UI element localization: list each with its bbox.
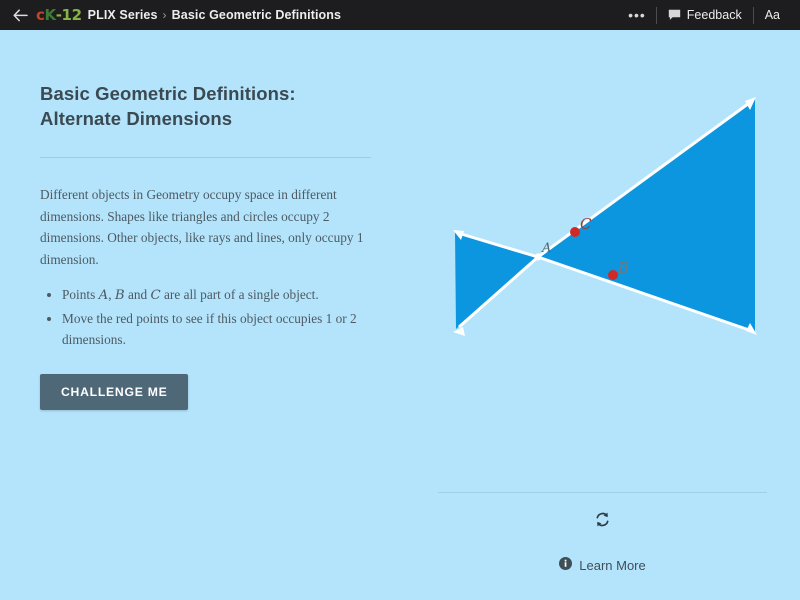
lesson-paragraph: Different objects in Geometry occupy spa… [40, 184, 380, 270]
challenge-me-button[interactable]: CHALLENGE ME [40, 374, 188, 410]
logo-12: -12 [56, 6, 82, 24]
figure-label-a: A [541, 241, 551, 256]
breadcrumb-separator-icon: › [163, 8, 167, 22]
refresh-icon [594, 511, 611, 531]
ck12-logo[interactable]: cK-12 [36, 6, 82, 24]
page-content: Basic Geometric Definitions: Alternate D… [0, 30, 800, 600]
bullet-1-post: are all part of a single object. [161, 287, 319, 302]
bullet-1-mid2: and [125, 287, 151, 302]
breadcrumb: PLIX Series › Basic Geometric Definition… [88, 8, 341, 22]
info-icon [559, 557, 572, 573]
more-options-icon[interactable]: ••• [618, 8, 656, 22]
figure-controls [430, 510, 775, 532]
top-bar-actions: ••• Feedback Aa [618, 0, 788, 30]
interactive-figure-panel: A B C [430, 82, 775, 573]
geometry-canvas[interactable]: A B C [430, 82, 770, 492]
logo-k: K [45, 6, 56, 24]
text-size-button[interactable]: Aa [754, 8, 788, 22]
point-label-b: B [115, 288, 125, 303]
learn-more-link[interactable]: Learn More [559, 557, 645, 573]
breadcrumb-root[interactable]: PLIX Series [88, 8, 158, 22]
title-divider [40, 157, 371, 158]
back-arrow-icon[interactable] [10, 5, 30, 25]
point-label-a: A [99, 288, 109, 303]
draggable-point-c [570, 227, 580, 237]
logo-c: c [36, 6, 45, 24]
reset-button[interactable] [592, 510, 614, 532]
draggable-point-b [608, 270, 618, 280]
figure-label-c: C [580, 215, 592, 233]
feedback-icon [668, 9, 681, 21]
page-title: Basic Geometric Definitions: Alternate D… [40, 82, 380, 131]
learn-more-row: Learn More [430, 557, 775, 573]
figure-divider [438, 492, 767, 493]
triangle-left [455, 232, 538, 329]
feedback-button[interactable]: Feedback [657, 8, 753, 22]
list-item: Points A, B and C are all part of a sing… [62, 284, 380, 307]
lesson-panel: Basic Geometric Definitions: Alternate D… [40, 82, 380, 410]
breadcrumb-current: Basic Geometric Definitions [172, 8, 341, 22]
top-bar: cK-12 PLIX Series › Basic Geometric Defi… [0, 0, 800, 30]
feedback-label: Feedback [687, 8, 742, 22]
bullet-1-mid1: , [108, 287, 115, 302]
list-item: Move the red points to see if this objec… [62, 308, 380, 351]
lesson-bullet-list: Points A, B and C are all part of a sing… [40, 284, 380, 351]
triangle-right [538, 99, 755, 333]
figure-label-b: B [617, 259, 629, 277]
lesson-description: Different objects in Geometry occupy spa… [40, 184, 380, 270]
bullet-1-pre: Points [62, 287, 99, 302]
point-label-c: C [151, 288, 161, 303]
learn-more-label: Learn More [579, 558, 645, 573]
